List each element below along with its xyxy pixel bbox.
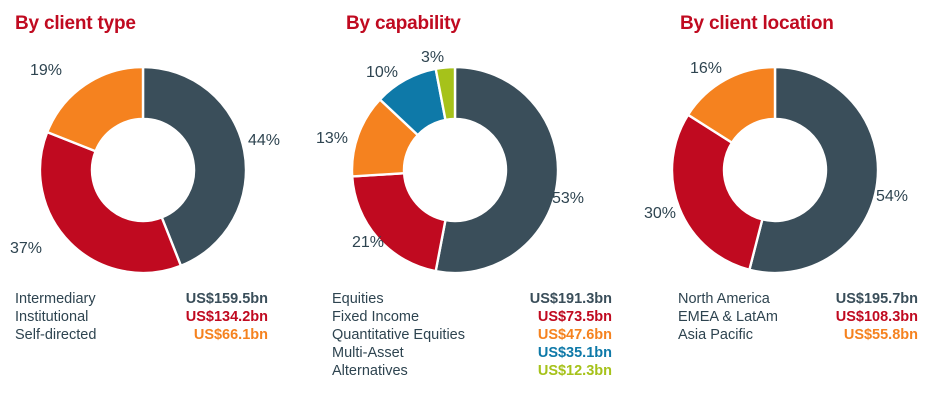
legend-label: Asia Pacific bbox=[678, 326, 753, 344]
page-title: By client location bbox=[680, 13, 834, 35]
donut-svg bbox=[660, 55, 890, 285]
legend-value: US$35.1bn bbox=[538, 344, 612, 362]
donut-svg bbox=[28, 55, 258, 285]
legend-row: EquitiesUS$191.3bn bbox=[320, 290, 640, 308]
legend-client-type: IntermediaryUS$159.5bnInstitutionalUS$13… bbox=[0, 290, 320, 344]
chart-panel-capability: By capability EquitiesUS$191.3bnFixed In… bbox=[320, 0, 640, 410]
legend-value: US$134.2bn bbox=[186, 308, 268, 326]
legend-row: Self-directedUS$66.1bn bbox=[0, 326, 320, 344]
slice-percent-label: 19% bbox=[30, 62, 62, 80]
donut-slice bbox=[672, 115, 762, 270]
legend-label: Alternatives bbox=[332, 362, 408, 380]
legend-label: EMEA & LatAm bbox=[678, 308, 778, 326]
slice-percent-label: 3% bbox=[421, 49, 444, 67]
legend-value: US$66.1bn bbox=[194, 326, 268, 344]
slice-percent-label: 37% bbox=[10, 240, 42, 258]
page-title: By capability bbox=[346, 13, 461, 35]
donut-slice bbox=[352, 173, 445, 271]
legend-value: US$12.3bn bbox=[538, 362, 612, 380]
legend-capability: EquitiesUS$191.3bnFixed IncomeUS$73.5bnQ… bbox=[320, 290, 640, 380]
legend-value: US$108.3bn bbox=[836, 308, 918, 326]
legend-value: US$55.8bn bbox=[844, 326, 918, 344]
donut-slice bbox=[40, 132, 181, 273]
legend-row: Multi-AssetUS$35.1bn bbox=[320, 344, 640, 362]
legend-row: AlternativesUS$12.3bn bbox=[320, 362, 640, 380]
slice-percent-label: 53% bbox=[552, 190, 584, 208]
slice-percent-label: 16% bbox=[690, 60, 722, 78]
legend-label: Intermediary bbox=[15, 290, 96, 308]
legend-label: Self-directed bbox=[15, 326, 96, 344]
legend-row: Asia PacificUS$55.8bn bbox=[640, 326, 940, 344]
legend-label: Institutional bbox=[15, 308, 88, 326]
slice-percent-label: 30% bbox=[644, 205, 676, 223]
legend-value: US$159.5bn bbox=[186, 290, 268, 308]
legend-value: US$47.6bn bbox=[538, 326, 612, 344]
legend-value: US$191.3bn bbox=[530, 290, 612, 308]
slice-percent-label: 21% bbox=[352, 234, 384, 252]
legend-row: Quantitative EquitiesUS$47.6bn bbox=[320, 326, 640, 344]
legend-label: North America bbox=[678, 290, 770, 308]
legend-row: North AmericaUS$195.7bn bbox=[640, 290, 940, 308]
legend-row: IntermediaryUS$159.5bn bbox=[0, 290, 320, 308]
donut-charts-figure: By client type IntermediaryUS$159.5bnIns… bbox=[0, 0, 940, 410]
legend-row: Fixed IncomeUS$73.5bn bbox=[320, 308, 640, 326]
legend-row: InstitutionalUS$134.2bn bbox=[0, 308, 320, 326]
legend-label: Equities bbox=[332, 290, 384, 308]
legend-value: US$195.7bn bbox=[836, 290, 918, 308]
slice-percent-label: 10% bbox=[366, 64, 398, 82]
page-title: By client type bbox=[15, 13, 136, 35]
legend-label: Multi-Asset bbox=[332, 344, 404, 362]
legend-row: EMEA & LatAmUS$108.3bn bbox=[640, 308, 940, 326]
donut-chart-client-type bbox=[28, 55, 258, 285]
slice-percent-label: 13% bbox=[316, 130, 348, 148]
legend-client-location: North AmericaUS$195.7bnEMEA & LatAmUS$10… bbox=[640, 290, 940, 344]
legend-label: Fixed Income bbox=[332, 308, 419, 326]
slice-percent-label: 44% bbox=[248, 132, 280, 150]
slice-percent-label: 54% bbox=[876, 188, 908, 206]
legend-label: Quantitative Equities bbox=[332, 326, 465, 344]
legend-value: US$73.5bn bbox=[538, 308, 612, 326]
donut-chart-client-location bbox=[660, 55, 890, 285]
